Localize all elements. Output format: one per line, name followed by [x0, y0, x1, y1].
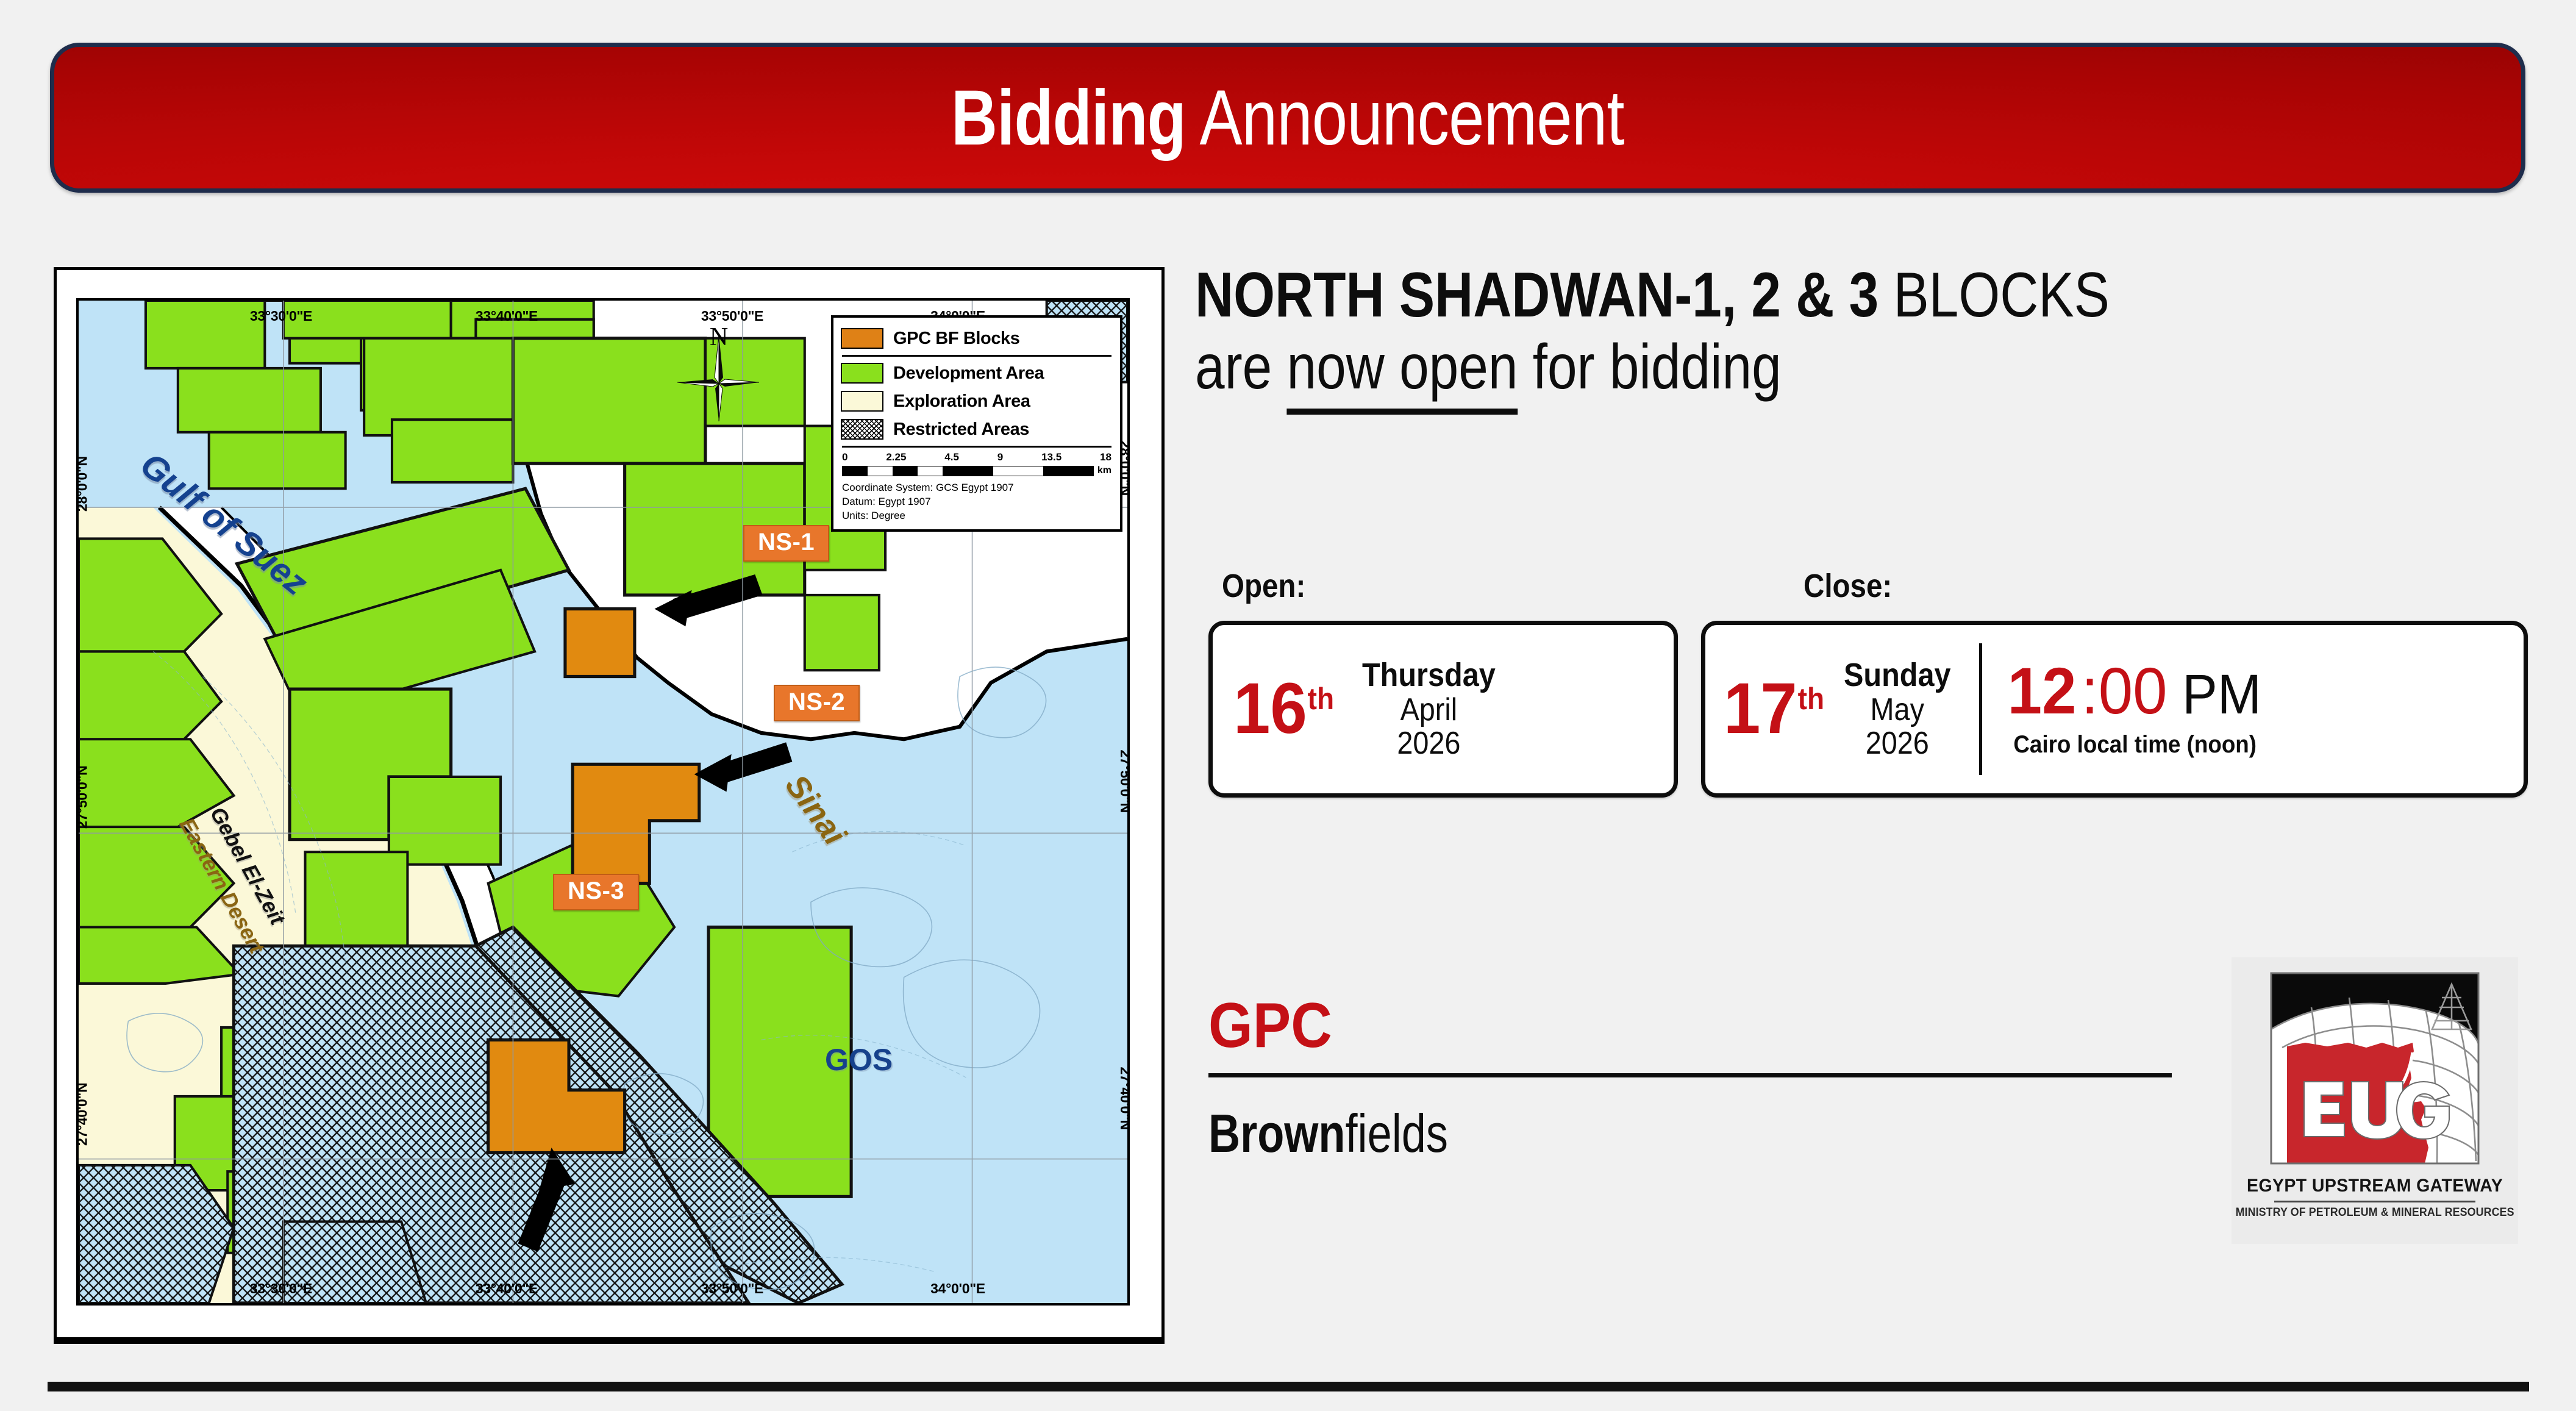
graticule-lat-label: 27°40'0"N: [76, 1083, 91, 1146]
scale-bar-wrap: km: [842, 465, 1111, 476]
close-time: 12:00PM: [2003, 660, 2267, 723]
coordinate-system-line: Coordinate System: GCS Egypt 1907: [842, 481, 1111, 495]
scale-tick: 9: [997, 451, 1003, 463]
close-heading: Close:: [1804, 567, 2441, 605]
map-frame: N Gulf of Suez Sinai Gebel El-Zeit Easte…: [76, 298, 1130, 1306]
headline-lead-text: are: [1195, 332, 1287, 402]
headline: NORTH SHADWAN-1, 2 & 3 BLOCKS are now op…: [1195, 262, 2530, 403]
brand-divider: [1208, 1073, 2172, 1077]
graticule-lon-label: 33°50'0"E: [701, 1281, 763, 1297]
close-time-hour: 12: [2008, 660, 2077, 723]
brand-gpc-label: GPC: [1208, 994, 2081, 1057]
eug-logo-name: EGYPT UPSTREAM GATEWAY: [2247, 1176, 2503, 1196]
close-time-block: 12:00PM Cairo local time (noon): [2003, 660, 2267, 759]
graticule-lon-label: 33°30'0"E: [250, 1281, 312, 1297]
restricted-swatch: [841, 419, 883, 440]
scale-tick: 0: [842, 451, 847, 463]
header-banner: Bidding Announcement: [50, 43, 2525, 193]
scale-tick: 2.25: [886, 451, 906, 463]
block-callout-ns-1: NS-1: [743, 525, 829, 562]
banner-title-regular: Announcement: [1186, 74, 1624, 162]
eug-logo-divider: [2274, 1201, 2475, 1202]
headline-trail-text: for bidding: [1518, 332, 1781, 402]
units-line: Units: Degree: [842, 509, 1111, 523]
open-month: April: [1362, 693, 1496, 727]
map-metadata: Coordinate System: GCS Egypt 1907 Datum:…: [842, 481, 1111, 523]
banner-title-bold: Bidding: [951, 74, 1186, 162]
scale-tick: 18: [1100, 451, 1111, 463]
scale-tick: 4.5: [944, 451, 959, 463]
headline-underlined-text: now open: [1287, 332, 1518, 415]
development-swatch: [841, 363, 883, 384]
scale-tick: 13.5: [1041, 451, 1061, 463]
graticule-lat-label: 28°0'0"N: [76, 456, 91, 512]
map-legend: GPC BF Blocks Development Area Explorati…: [831, 315, 1122, 532]
gpc-bf-swatch: [841, 328, 883, 349]
eug-logo-mark: [2269, 971, 2481, 1166]
legend-label: Restricted Areas: [893, 420, 1029, 440]
graticule-lon-label: 34°0'0"E: [930, 1281, 985, 1297]
headline-blocks-name: NORTH SHADWAN-1, 2 & 3: [1195, 260, 1878, 330]
compass-rose: N: [676, 325, 762, 441]
close-month: May: [1844, 693, 1951, 727]
scale-unit-label: km: [1097, 465, 1111, 476]
close-year: 2026: [1844, 727, 1951, 760]
close-weekday: Sunday: [1844, 658, 1951, 693]
announcement-panel: NORTH SHADWAN-1, 2 & 3 BLOCKS are now op…: [1195, 262, 2530, 1348]
close-day-ordinal: th: [1798, 684, 1824, 714]
graticule-lon-label: 33°40'0"E: [476, 308, 538, 324]
bottom-bar: [48, 1382, 2529, 1391]
close-day-value: 17: [1724, 677, 1797, 741]
eug-logo: EGYPT UPSTREAM GATEWAY MINISTRY OF PETRO…: [2232, 957, 2518, 1244]
graticule-lon-label: 33°30'0"E: [250, 308, 312, 324]
headline-blocks-suffix: BLOCKS: [1878, 260, 2110, 330]
legend-label: Exploration Area: [893, 391, 1030, 412]
headline-line-1: NORTH SHADWAN-1, 2 & 3 BLOCKS: [1195, 262, 2317, 328]
eug-logo-subtitle: MINISTRY OF PETROLEUM & MINERAL RESOURCE…: [2236, 1206, 2514, 1220]
scale-tick-labels: 0 2.25 4.5 9 13.5 18: [842, 451, 1111, 465]
legend-label: GPC BF Blocks: [893, 329, 1020, 349]
legend-divider: [842, 446, 1111, 448]
legend-item-development-area: Development Area: [841, 360, 1113, 387]
legend-item-gpc-bf-blocks: GPC BF Blocks: [841, 325, 1113, 352]
brand-brownfields-bold: Brown: [1208, 1103, 1345, 1163]
open-year: 2026: [1362, 727, 1496, 760]
headline-line-2: are now open for bidding: [1195, 332, 2317, 402]
legend-divider: [842, 355, 1111, 357]
open-day-value: 16: [1233, 677, 1307, 741]
open-weekday: Thursday: [1362, 658, 1496, 693]
open-date-text: Thursday April 2026: [1354, 658, 1510, 760]
close-date-group: Close: 17th Sunday May 2026 12:00PM Cair…: [1701, 567, 2528, 798]
graticule-lon-label: 33°40'0"E: [476, 1281, 538, 1297]
open-heading: Open:: [1222, 567, 1623, 605]
open-day-ordinal: th: [1308, 684, 1334, 714]
open-date-group: Open: 16th Thursday April 2026: [1208, 567, 1678, 798]
graticule-lat-label: 27°40'0"N: [1117, 1067, 1130, 1130]
legend-item-exploration-area: Exploration Area: [841, 388, 1113, 415]
map-scale-bar: 0 2.25 4.5 9 13.5 18: [842, 451, 1111, 476]
close-time-meridiem: PM: [2182, 668, 2261, 721]
block-callout-ns-3: NS-3: [553, 874, 639, 910]
close-day-number: 17th: [1724, 677, 1824, 741]
open-day-number: 16th: [1233, 677, 1334, 741]
datum-line: Datum: Egypt 1907: [842, 495, 1111, 509]
close-card-divider: [1979, 643, 1982, 775]
block-callout-ns-2: NS-2: [774, 685, 860, 721]
close-date-text: Sunday May 2026: [1844, 658, 1963, 760]
close-time-note: Cairo local time (noon): [2013, 731, 2257, 759]
legend-item-restricted-areas: Restricted Areas: [841, 416, 1113, 443]
open-date-card: 16th Thursday April 2026: [1208, 621, 1678, 798]
close-date-card: 17th Sunday May 2026 12:00PM Cairo local…: [1701, 621, 2528, 798]
brand-brownfields-regular: fields: [1345, 1103, 1447, 1163]
banner-title: Bidding Announcement: [951, 73, 1624, 163]
graticule-lat-label: 27°50'0"N: [1117, 750, 1130, 813]
exploration-swatch: [841, 391, 883, 412]
map-panel: N Gulf of Suez Sinai Gebel El-Zeit Easte…: [54, 267, 1165, 1340]
graticule-lat-label: 27°50'0"N: [76, 766, 91, 829]
compass-north-label: N: [710, 323, 728, 352]
legend-label: Development Area: [893, 363, 1044, 384]
brand-block: GPC Brownfields: [1208, 994, 2178, 1160]
brand-brownfields-label: Brownfields: [1208, 1107, 2003, 1160]
graticule-lon-label: 33°50'0"E: [701, 308, 763, 324]
close-time-minutes: :00: [2082, 660, 2167, 723]
scale-bar-segments: [842, 466, 1094, 476]
